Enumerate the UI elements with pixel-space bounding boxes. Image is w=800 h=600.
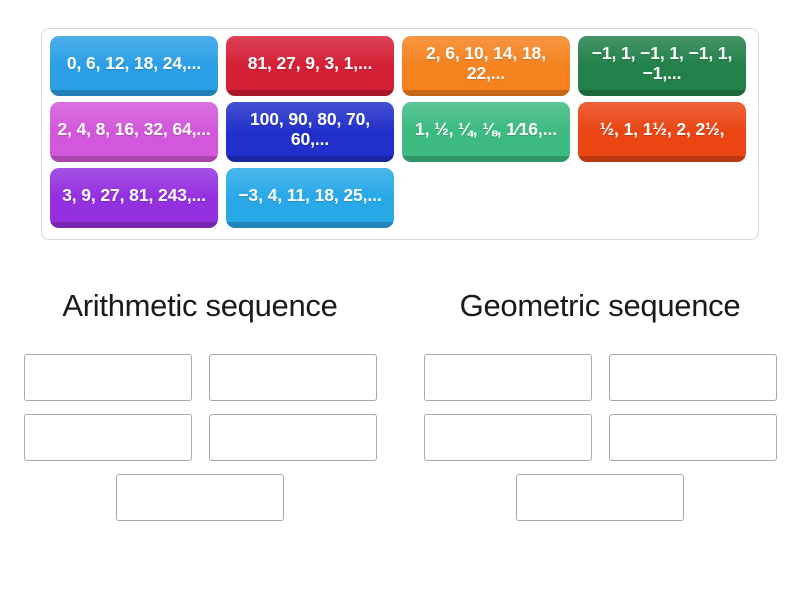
drop-slot-row-last-geometric (418, 474, 782, 521)
tile-row-2: 2, 4, 8, 16, 32, 64,... 100, 90, 80, 70,… (50, 102, 752, 162)
tile-tray-rows: 0, 6, 12, 18, 24,... 81, 27, 9, 3, 1,...… (50, 36, 752, 228)
tile-tray: 0, 6, 12, 18, 24,... 81, 27, 9, 3, 1,...… (41, 28, 759, 240)
drop-slot-geometric-1[interactable] (424, 354, 592, 401)
tile-row-3: 3, 9, 27, 81, 243,... −3, 4, 11, 18, 25,… (50, 168, 752, 228)
tile-sequence-neg1-1-neg1[interactable]: −1, 1, −1, 1, −1, 1, −1,... (578, 36, 746, 96)
tile-row-1: 0, 6, 12, 18, 24,... 81, 27, 9, 3, 1,...… (50, 36, 752, 96)
tile-slot-empty-2 (578, 168, 746, 228)
category-geometric-sequence: Geometric sequence (400, 288, 800, 521)
tile-label: −1, 1, −1, 1, −1, 1, −1,... (584, 44, 740, 83)
category-columns: Arithmetic sequence Geometric sequence (0, 288, 800, 521)
drop-slot-arithmetic-4[interactable] (209, 414, 377, 461)
drop-slot-grid-geometric (418, 354, 782, 521)
tile-label: 100, 90, 80, 70, 60,... (232, 110, 388, 149)
tile-label: 1, ½, ¼, ⅛, 1⁄16,... (415, 120, 557, 140)
tile-label: 81, 27, 9, 3, 1,... (248, 54, 373, 74)
drop-slot-geometric-3[interactable] (424, 414, 592, 461)
tile-sequence-100-90-80[interactable]: 100, 90, 80, 70, 60,... (226, 102, 394, 162)
tile-label: 2, 6, 10, 14, 18, 22,... (408, 44, 564, 83)
category-title-geometric: Geometric sequence (460, 288, 741, 324)
tile-sequence-neg3-4-11[interactable]: −3, 4, 11, 18, 25,... (226, 168, 394, 228)
tile-label: 3, 9, 27, 81, 243,... (62, 186, 206, 206)
tile-sequence-3-9-27[interactable]: 3, 9, 27, 81, 243,... (50, 168, 218, 228)
drop-slot-geometric-4[interactable] (609, 414, 777, 461)
drop-slot-arithmetic-3[interactable] (24, 414, 192, 461)
tile-label: 2, 4, 8, 16, 32, 64,... (57, 120, 210, 140)
tile-sequence-2-6-10[interactable]: 2, 6, 10, 14, 18, 22,... (402, 36, 570, 96)
tile-label: ½, 1, 1½, 2, 2½, (600, 120, 725, 140)
drop-slot-row-last-arithmetic (18, 474, 382, 521)
drop-slot-arithmetic-1[interactable] (24, 354, 192, 401)
tile-sequence-2-4-8[interactable]: 2, 4, 8, 16, 32, 64,... (50, 102, 218, 162)
drop-slot-grid-arithmetic (18, 354, 382, 521)
drop-slot-geometric-5[interactable] (516, 474, 684, 521)
tile-label: −3, 4, 11, 18, 25,... (238, 186, 381, 206)
drop-slot-arithmetic-5[interactable] (116, 474, 284, 521)
tile-sequence-81-27-9[interactable]: 81, 27, 9, 3, 1,... (226, 36, 394, 96)
category-arithmetic-sequence: Arithmetic sequence (0, 288, 400, 521)
tile-label: 0, 6, 12, 18, 24,... (67, 54, 201, 74)
tile-slot-empty-1 (402, 168, 570, 228)
tile-sequence-1-half-quarter[interactable]: 1, ½, ¼, ⅛, 1⁄16,... (402, 102, 570, 162)
drop-slot-geometric-2[interactable] (609, 354, 777, 401)
category-title-arithmetic: Arithmetic sequence (62, 288, 337, 324)
drop-slot-arithmetic-2[interactable] (209, 354, 377, 401)
tile-sequence-half-1-onehalf[interactable]: ½, 1, 1½, 2, 2½, (578, 102, 746, 162)
tile-sequence-0-6-12[interactable]: 0, 6, 12, 18, 24,... (50, 36, 218, 96)
